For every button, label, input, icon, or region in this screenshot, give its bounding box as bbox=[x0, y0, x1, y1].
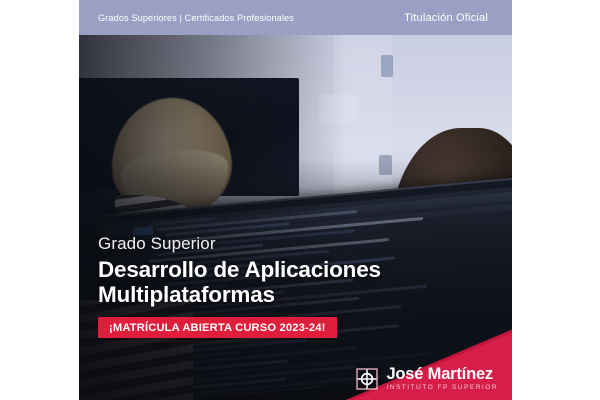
background-photo bbox=[79, 0, 512, 400]
top-band: Grados Superiores | Certificados Profesi… bbox=[79, 0, 512, 35]
headline-title-line2: Multiplataformas bbox=[98, 282, 275, 307]
poster: Grados Superiores | Certificados Profesi… bbox=[79, 0, 512, 400]
crosshair-target-icon bbox=[356, 368, 378, 390]
headline-kicker: Grado Superior bbox=[98, 235, 468, 254]
top-band-right-text: Titulación Oficial bbox=[404, 12, 488, 24]
headline-block: Grado Superior Desarrollo de Aplicacione… bbox=[98, 235, 468, 338]
image-canvas: Grados Superiores | Certificados Profesi… bbox=[0, 0, 600, 400]
headline-title: Desarrollo de Aplicaciones Multiplatafor… bbox=[98, 257, 468, 308]
top-band-left-text: Grados Superiores | Certificados Profesi… bbox=[98, 13, 294, 23]
headline-title-line1: Desarrollo de Aplicaciones bbox=[98, 257, 381, 282]
brand-tagline: INSTITUTO FP SUPERIOR bbox=[386, 385, 498, 392]
photo-vignette bbox=[79, 0, 512, 400]
brand-name: José Martínez bbox=[386, 365, 493, 383]
brand-logo[interactable]: José Martínez INSTITUTO FP SUPERIOR bbox=[356, 366, 498, 392]
enrollment-badge[interactable]: ¡MATRÍCULA ABIERTA CURSO 2023-24! bbox=[98, 317, 337, 338]
brand-logo-text: José Martínez INSTITUTO FP SUPERIOR bbox=[386, 366, 498, 392]
